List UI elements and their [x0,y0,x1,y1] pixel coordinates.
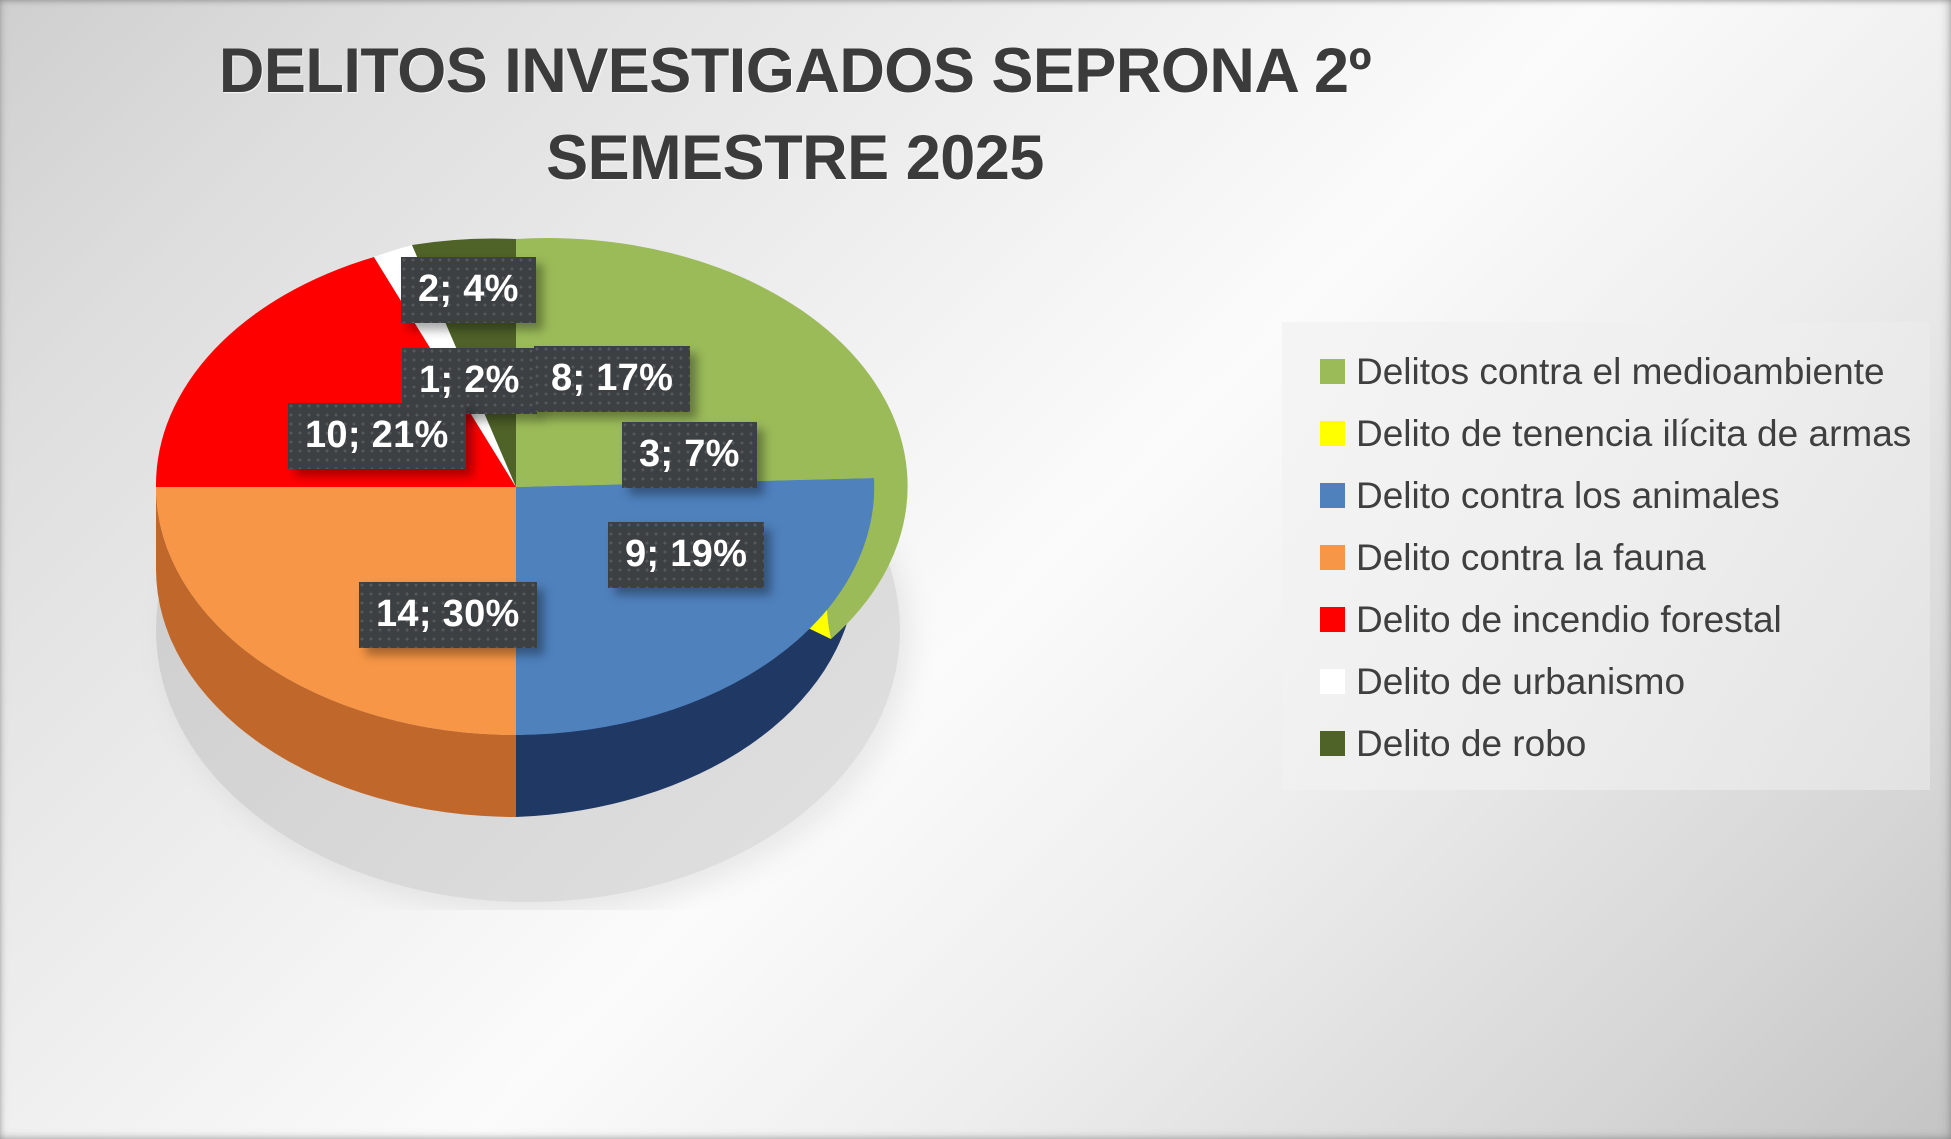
data-label-robo: 2; 4% [401,257,536,323]
legend-item-armas[interactable]: Delito de tenencia ilícita de armas [1320,402,1940,464]
pie-chart: 2; 4% 1; 2% 8; 17% 10; 21% 3; 7% 9; 19% … [120,210,980,910]
legend-item-urbanismo[interactable]: Delito de urbanismo [1320,650,1940,712]
legend-swatch-medioambiente [1320,359,1345,384]
legend-label-fauna: Delito contra la fauna [1356,539,1706,576]
data-label-medioambiente: 8; 17% [534,346,690,412]
legend-swatch-animales [1320,483,1345,508]
legend-label-robo: Delito de robo [1356,725,1586,762]
legend-item-incendio[interactable]: Delito de incendio forestal [1320,588,1940,650]
legend-label-animales: Delito contra los animales [1356,477,1780,514]
legend-swatch-urbanismo [1320,669,1345,694]
chart-legend: Delitos contra el medioambiente Delito d… [1320,340,1940,774]
data-label-animales: 9; 19% [608,522,764,588]
pie-chart-svg [120,210,980,910]
legend-label-armas: Delito de tenencia ilícita de armas [1356,415,1911,452]
legend-label-medioambiente: Delitos contra el medioambiente [1356,353,1885,390]
data-label-fauna: 14; 30% [359,582,537,648]
legend-swatch-robo [1320,731,1345,756]
legend-item-robo[interactable]: Delito de robo [1320,712,1940,774]
legend-item-medioambiente[interactable]: Delitos contra el medioambiente [1320,340,1940,402]
chart-title: DELITOS INVESTIGADOS SEPRONA 2º SEMESTRE… [170,28,1420,202]
data-label-incendio: 10; 21% [288,403,466,469]
legend-swatch-armas [1320,421,1345,446]
legend-label-incendio: Delito de incendio forestal [1356,601,1782,638]
data-label-armas: 3; 7% [622,422,757,488]
legend-item-animales[interactable]: Delito contra los animales [1320,464,1940,526]
legend-item-fauna[interactable]: Delito contra la fauna [1320,526,1940,588]
legend-swatch-fauna [1320,545,1345,570]
slide-canvas: DELITOS INVESTIGADOS SEPRONA 2º SEMESTRE… [0,0,1951,1139]
legend-swatch-incendio [1320,607,1345,632]
legend-label-urbanismo: Delito de urbanismo [1356,663,1685,700]
